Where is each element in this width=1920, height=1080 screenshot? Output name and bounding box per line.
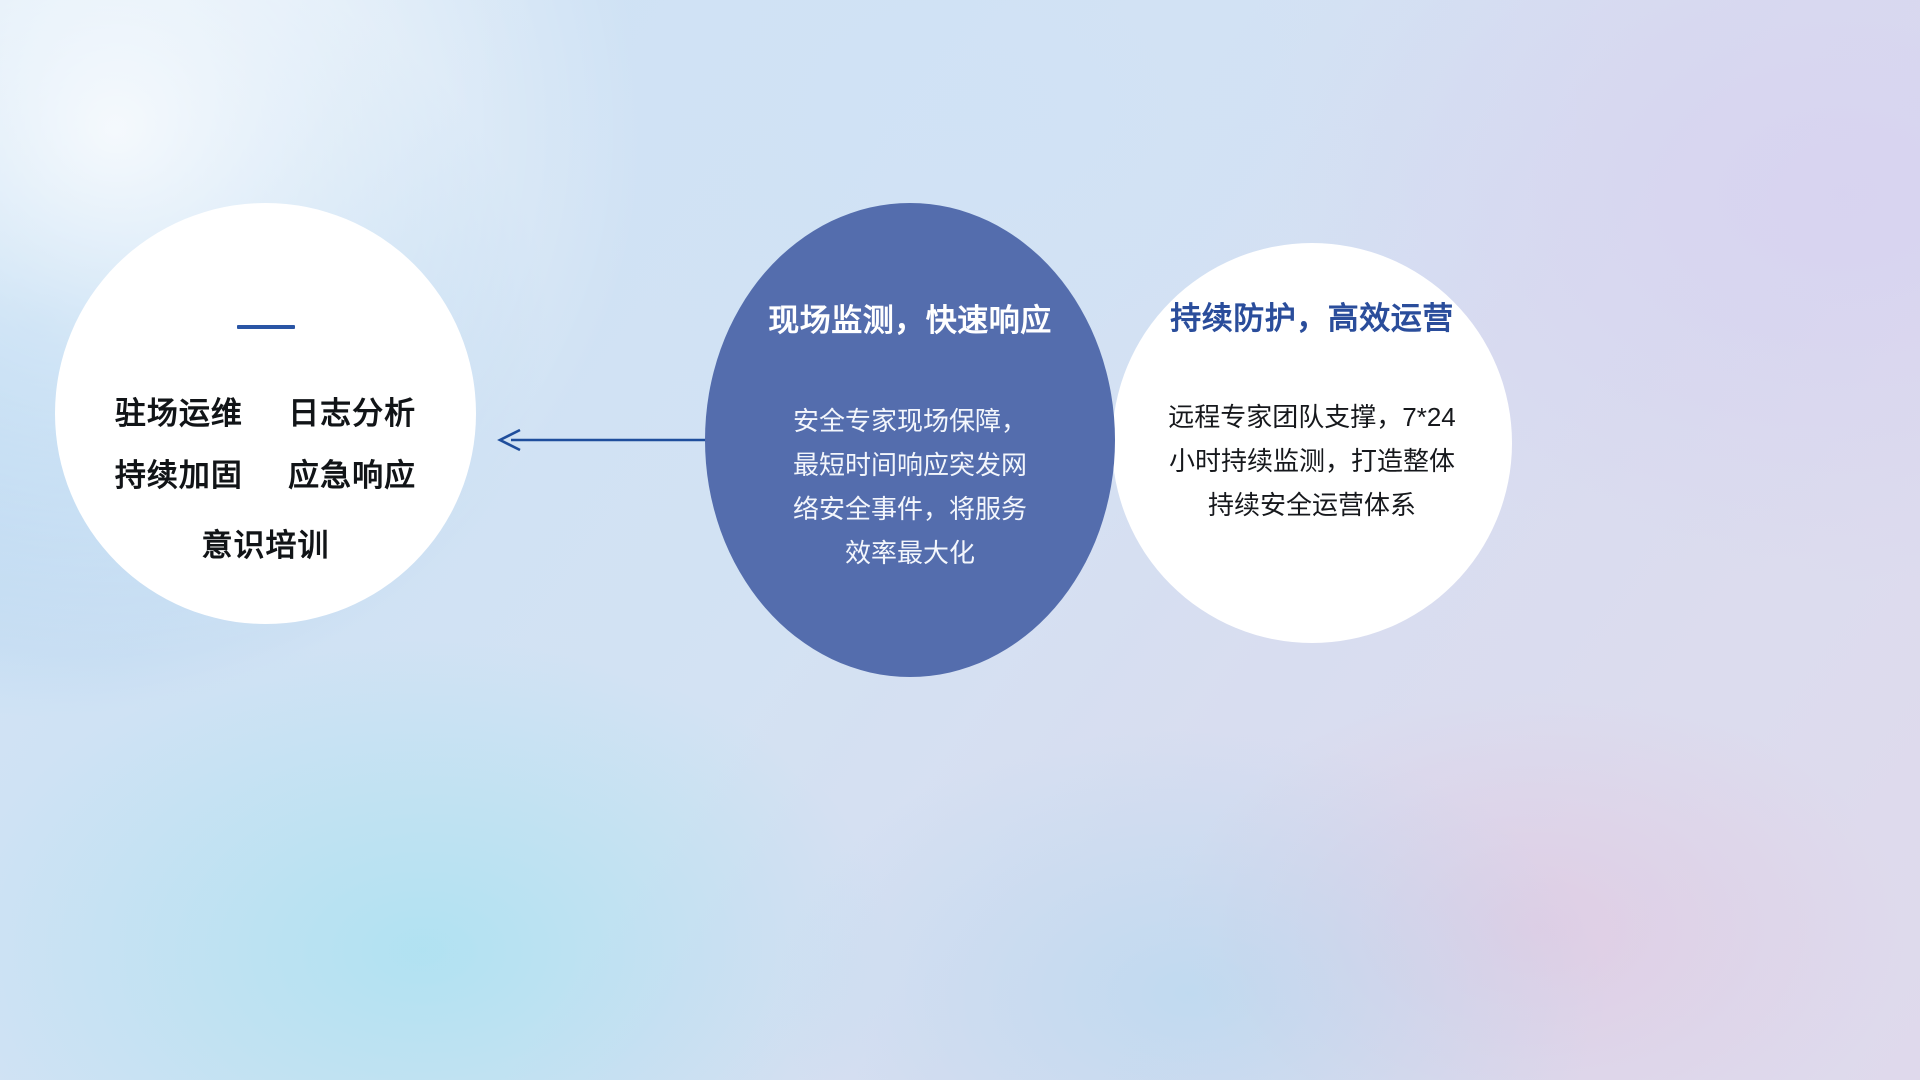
right-operations-circle[interactable]: 持续防护，高效运营 远程专家团队支撑，7*24 小时持续监测，打造整体 持续安全…	[1112, 243, 1512, 643]
left-tag-3: 持续加固	[115, 458, 243, 493]
right-circle-body: 远程专家团队支撑，7*24 小时持续监测，打造整体 持续安全运营体系	[1120, 395, 1504, 527]
divider-rule	[237, 325, 295, 329]
left-tag-4: 应急响应	[288, 458, 416, 493]
middle-body-line-2: 最短时间响应突发网	[745, 443, 1075, 487]
slide-canvas: 驻场运维 日志分析 持续加固 应急响应 意识培训 现场监测，快速响应 安全专家现…	[0, 0, 1920, 1080]
left-circle-line-1: 驻场运维 日志分析	[55, 388, 476, 433]
left-tag-1: 驻场运维	[115, 396, 243, 431]
middle-body-line-4: 效率最大化	[745, 531, 1075, 575]
middle-onsite-circle[interactable]: 现场监测，快速响应 安全专家现场保障， 最短时间响应突发网 络安全事件，将服务 …	[705, 203, 1115, 677]
left-capability-circle[interactable]: 驻场运维 日志分析 持续加固 应急响应 意识培训	[55, 203, 476, 624]
middle-body-line-1: 安全专家现场保障，	[745, 399, 1075, 443]
right-body-line-2: 小时持续监测，打造整体	[1120, 439, 1504, 483]
right-body-line-1: 远程专家团队支撑，7*24	[1120, 395, 1504, 439]
left-circle-line-2: 持续加固 应急响应	[55, 450, 476, 495]
flow-arrow-icon	[495, 424, 710, 456]
left-tag-5: 意识培训	[202, 528, 330, 563]
right-circle-title: 持续防护，高效运营	[1132, 293, 1492, 338]
left-circle-line-3: 意识培训	[55, 520, 476, 565]
middle-circle-title: 现场监测，快速响应	[655, 295, 1165, 340]
middle-circle-body: 安全专家现场保障， 最短时间响应突发网 络安全事件，将服务 效率最大化	[745, 399, 1075, 575]
left-tag-2: 日志分析	[288, 396, 416, 431]
middle-body-line-3: 络安全事件，将服务	[745, 487, 1075, 531]
right-body-line-3: 持续安全运营体系	[1120, 483, 1504, 527]
